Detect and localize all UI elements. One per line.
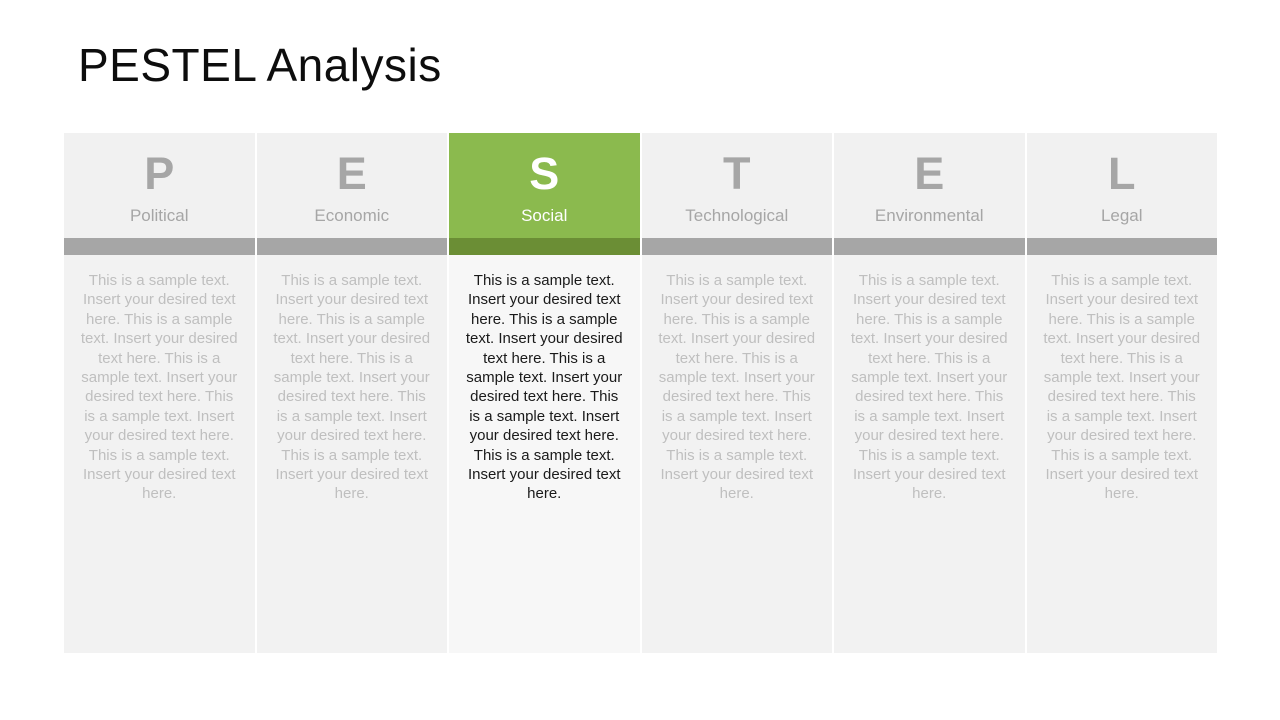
column-body-text: This is a sample text. Insert your desir… — [78, 271, 241, 504]
pestel-column-social[interactable]: S Social This is a sample text. Insert y… — [449, 133, 640, 653]
column-label: Economic — [314, 207, 389, 224]
column-header-political[interactable]: P Political — [64, 133, 255, 238]
column-label: Social — [521, 207, 567, 224]
column-accent-bar — [642, 238, 833, 255]
column-body-legal[interactable]: This is a sample text. Insert your desir… — [1027, 255, 1218, 653]
column-label: Environmental — [875, 207, 984, 224]
column-body-text: This is a sample text. Insert your desir… — [656, 271, 819, 504]
column-accent-bar — [64, 238, 255, 255]
column-letter: S — [529, 151, 559, 196]
column-accent-bar — [834, 238, 1025, 255]
column-label: Legal — [1101, 207, 1143, 224]
column-body-technological[interactable]: This is a sample text. Insert your desir… — [642, 255, 833, 653]
column-letter: L — [1108, 151, 1136, 196]
column-body-text: This is a sample text. Insert your desir… — [848, 271, 1011, 504]
column-letter: E — [914, 151, 944, 196]
pestel-column-legal[interactable]: L Legal This is a sample text. Insert yo… — [1027, 133, 1218, 653]
column-header-legal[interactable]: L Legal — [1027, 133, 1218, 238]
column-accent-bar — [257, 238, 448, 255]
column-body-environmental[interactable]: This is a sample text. Insert your desir… — [834, 255, 1025, 653]
column-accent-bar — [1027, 238, 1218, 255]
column-letter: P — [144, 151, 174, 196]
pestel-diagram: P Political This is a sample text. Inser… — [64, 133, 1217, 653]
column-body-social[interactable]: This is a sample text. Insert your desir… — [449, 255, 640, 653]
column-label: Political — [130, 207, 189, 224]
pestel-column-political[interactable]: P Political This is a sample text. Inser… — [64, 133, 255, 653]
column-body-text: This is a sample text. Insert your desir… — [271, 271, 434, 504]
column-body-text: This is a sample text. Insert your desir… — [1041, 271, 1204, 504]
column-body-economic[interactable]: This is a sample text. Insert your desir… — [257, 255, 448, 653]
pestel-column-economic[interactable]: E Economic This is a sample text. Insert… — [257, 133, 448, 653]
column-label: Technological — [685, 207, 788, 224]
column-body-text: This is a sample text. Insert your desir… — [463, 271, 626, 504]
column-header-environmental[interactable]: E Environmental — [834, 133, 1025, 238]
column-header-economic[interactable]: E Economic — [257, 133, 448, 238]
column-body-political[interactable]: This is a sample text. Insert your desir… — [64, 255, 255, 653]
column-header-social[interactable]: S Social — [449, 133, 640, 238]
slide-canvas: PESTEL Analysis P Political This is a sa… — [0, 0, 1280, 720]
column-accent-bar — [449, 238, 640, 255]
column-letter: T — [723, 151, 751, 196]
page-title: PESTEL Analysis — [78, 40, 442, 91]
pestel-column-technological[interactable]: T Technological This is a sample text. I… — [642, 133, 833, 653]
pestel-column-environmental[interactable]: E Environmental This is a sample text. I… — [834, 133, 1025, 653]
column-letter: E — [337, 151, 367, 196]
column-header-technological[interactable]: T Technological — [642, 133, 833, 238]
